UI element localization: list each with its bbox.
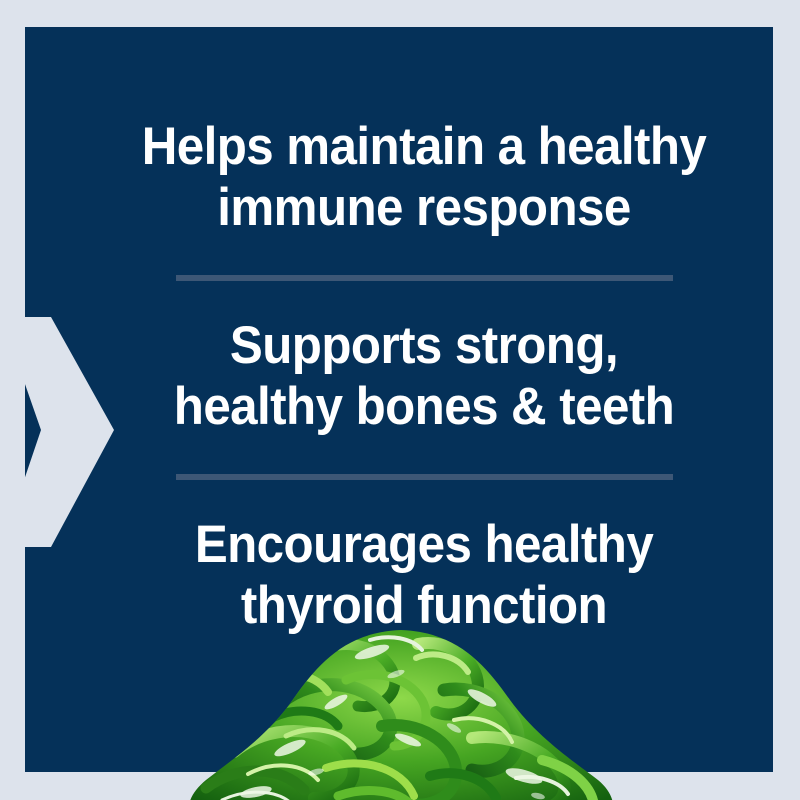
- benefit-bones: Supports strong, healthy bones & teeth: [99, 315, 750, 438]
- benefit-thyroid: Encourages healthy thyroid function: [99, 514, 750, 637]
- benefit-divider-1: [176, 275, 673, 281]
- benefit-immune: Helps maintain a healthy immune response: [99, 116, 750, 239]
- benefits-card: Helps maintain a healthy immune response…: [25, 27, 773, 772]
- benefit-divider-2: [176, 474, 673, 480]
- poster-canvas: Helps maintain a healthy immune response…: [0, 0, 800, 800]
- benefits-list: Helps maintain a healthy immune response…: [50, 54, 773, 674]
